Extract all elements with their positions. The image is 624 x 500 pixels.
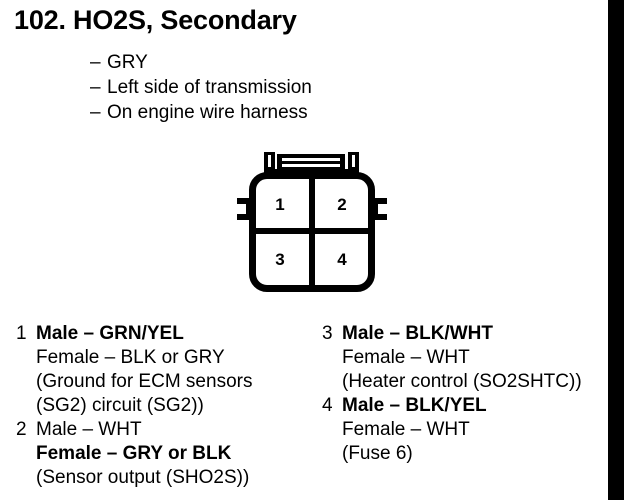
note-dash-icon: – — [90, 75, 107, 100]
connector-side-ear-left — [237, 198, 252, 220]
pin-entry-index: 2 — [16, 418, 36, 442]
pin-female-wire-color: Female – WHT — [342, 346, 612, 370]
pin-number-2: 2 — [332, 196, 352, 213]
pin-female-wire-color: Female – GRY or BLK — [36, 442, 316, 466]
connector-divider-horizontal — [251, 228, 373, 234]
pin-description-column-left: 1Male – GRN/YELFemale – BLK or GRY(Groun… — [16, 322, 316, 490]
pin-female-wire-color: Female – BLK or GRY — [36, 346, 316, 370]
pin-entry-header: 2Male – WHT — [16, 418, 316, 442]
pin-function-description: (Fuse 6) — [342, 442, 612, 466]
pin-male-wire-color: Male – WHT — [36, 418, 142, 442]
pin-entry-index: 3 — [322, 322, 342, 346]
connector-note: –On engine wire harness — [90, 100, 510, 125]
pin-entry-header: 4Male – BLK/YEL — [322, 394, 612, 418]
pin-number-1: 1 — [270, 196, 290, 213]
latch-slit-upper — [282, 158, 340, 161]
pin-number-4: 4 — [332, 251, 352, 268]
pin-description-entry: 4Male – BLK/YELFemale – WHT(Fuse 6) — [322, 394, 612, 466]
pin-description-entry: 1Male – GRN/YELFemale – BLK or GRY(Groun… — [16, 322, 316, 418]
note-dash-icon: – — [90, 50, 107, 75]
connector-note: –GRY — [90, 50, 510, 75]
latch-slit-lower — [282, 164, 340, 167]
page-title: 102. HO2S, Secondary — [14, 4, 297, 36]
note-text: Left side of transmission — [107, 75, 312, 100]
pin-entry-header: 1Male – GRN/YEL — [16, 322, 316, 346]
pin-number-3: 3 — [270, 251, 290, 268]
pin-function-description: (SG2) circuit (SG2)) — [36, 394, 316, 418]
pin-entry-index: 1 — [16, 322, 36, 346]
pin-description-entry: 3Male – BLK/WHTFemale – WHT(Heater contr… — [322, 322, 612, 394]
note-text: GRY — [107, 50, 148, 75]
pin-male-wire-color: Male – BLK/WHT — [342, 322, 493, 346]
latch-bar-icon — [277, 154, 345, 170]
pin-entry-index: 4 — [322, 394, 342, 418]
pin-description-column-right: 3Male – BLK/WHTFemale – WHT(Heater contr… — [322, 322, 612, 466]
pin-function-description: (Heater control (SO2SHTC)) — [342, 370, 612, 394]
pin-male-wire-color: Male – BLK/YEL — [342, 394, 487, 418]
page-edge-band — [608, 0, 624, 500]
note-dash-icon: – — [90, 100, 107, 125]
note-text: On engine wire harness — [107, 100, 308, 125]
pin-entry-header: 3Male – BLK/WHT — [322, 322, 612, 346]
pin-female-wire-color: Female – WHT — [342, 418, 612, 442]
pin-function-description: (Ground for ECM sensors — [36, 370, 316, 394]
connector-notes-list: –GRY–Left side of transmission–On engine… — [90, 50, 510, 125]
connector-note: –Left side of transmission — [90, 75, 510, 100]
pin-male-wire-color: Male – GRN/YEL — [36, 322, 184, 346]
pin-function-description: (Sensor output (SHO2S)) — [36, 466, 316, 490]
pin-description-entry: 2Male – WHTFemale – GRY or BLK(Sensor ou… — [16, 418, 316, 490]
connector-diagram: 1 2 3 4 — [232, 150, 392, 298]
connector-side-ear-right — [372, 198, 387, 220]
